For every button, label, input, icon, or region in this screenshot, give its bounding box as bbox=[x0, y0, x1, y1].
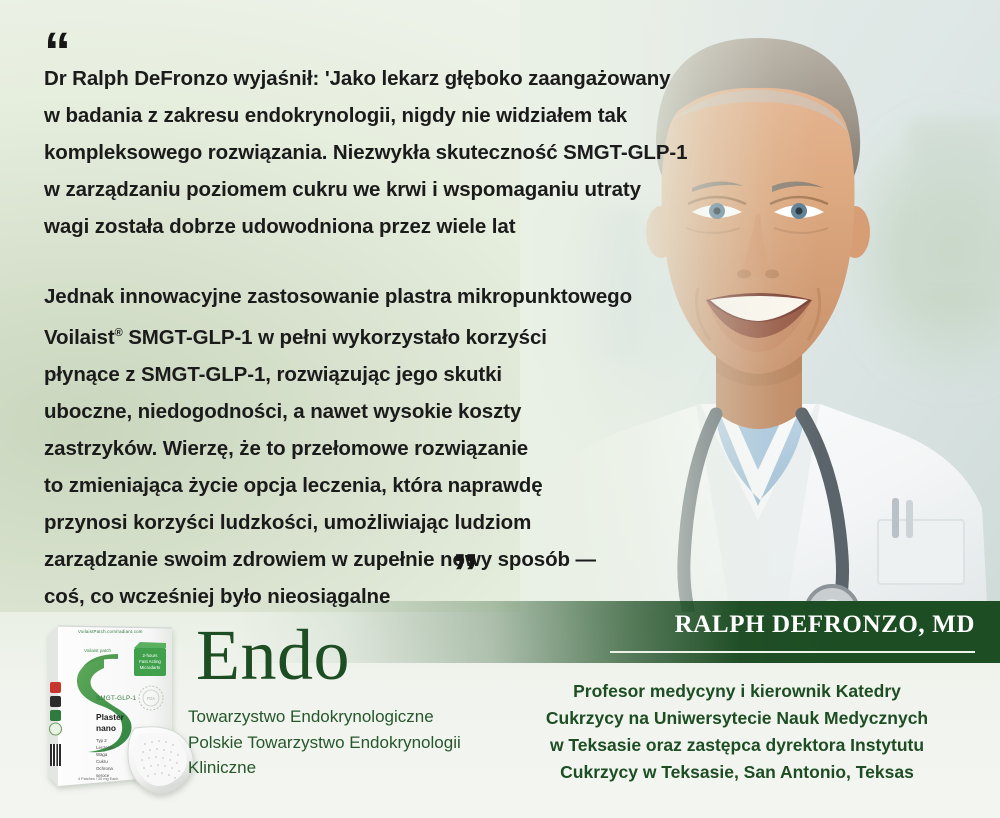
svg-text:Waga: Waga bbox=[96, 752, 108, 757]
quote-body: Dr Ralph DeFronzo wyjaśnił: 'Jako lekarz… bbox=[44, 60, 724, 615]
endo-subtitle: Towarzystwo Endokrynologiczne Polskie To… bbox=[188, 704, 518, 781]
name-underline-divider bbox=[610, 651, 975, 653]
svg-text:2-hours: 2-hours bbox=[143, 653, 159, 658]
svg-text:SMGT-GLP-1: SMGT-GLP-1 bbox=[96, 695, 137, 702]
svg-text:Typ 2: Typ 2 bbox=[96, 738, 107, 743]
testimonial-card: “ Dr Ralph DeFronzo wyjaśnił: 'Jako leka… bbox=[0, 0, 1000, 818]
product-box-image: VoilaistPatch.com/radiant.com Voilaist p… bbox=[32, 616, 212, 802]
svg-text:Plaster: Plaster bbox=[96, 712, 125, 722]
svg-text:Voilaist patch: Voilaist patch bbox=[84, 648, 112, 653]
quote-close-icon: ” bbox=[452, 549, 477, 598]
svg-text:4 Patches / 30 mg Each: 4 Patches / 30 mg Each bbox=[78, 777, 118, 781]
doctor-name: RALPH DEFRONZO, MD bbox=[675, 611, 975, 639]
svg-text:nano: nano bbox=[96, 723, 116, 733]
svg-text:FDA: FDA bbox=[147, 696, 156, 701]
svg-text:VoilaistPatch.com/radiant.com: VoilaistPatch.com/radiant.com bbox=[78, 629, 143, 634]
doctor-credentials: Profesor medycyny i kierownik Katedry Cu… bbox=[502, 678, 972, 786]
name-banner: RALPH DEFRONZO, MD bbox=[230, 601, 1000, 663]
quote-paragraph-1: Dr Ralph DeFronzo wyjaśnił: 'Jako lekarz… bbox=[44, 60, 724, 245]
svg-text:Microdarts: Microdarts bbox=[140, 665, 161, 670]
svg-text:Ochrona: Ochrona bbox=[96, 766, 113, 771]
svg-text:Leczenie: Leczenie bbox=[96, 745, 114, 750]
svg-text:Cukru: Cukru bbox=[96, 759, 108, 764]
quote-paragraph-2-rest: SMGT-GLP-1 w pełni wykorzystało korzyści… bbox=[44, 326, 596, 608]
svg-text:Fast Acting: Fast Acting bbox=[139, 659, 161, 664]
quote-paragraph-2: Jednak innowacyjne zastosowanie plastra … bbox=[44, 278, 724, 615]
registered-trademark-icon: ® bbox=[115, 327, 123, 339]
